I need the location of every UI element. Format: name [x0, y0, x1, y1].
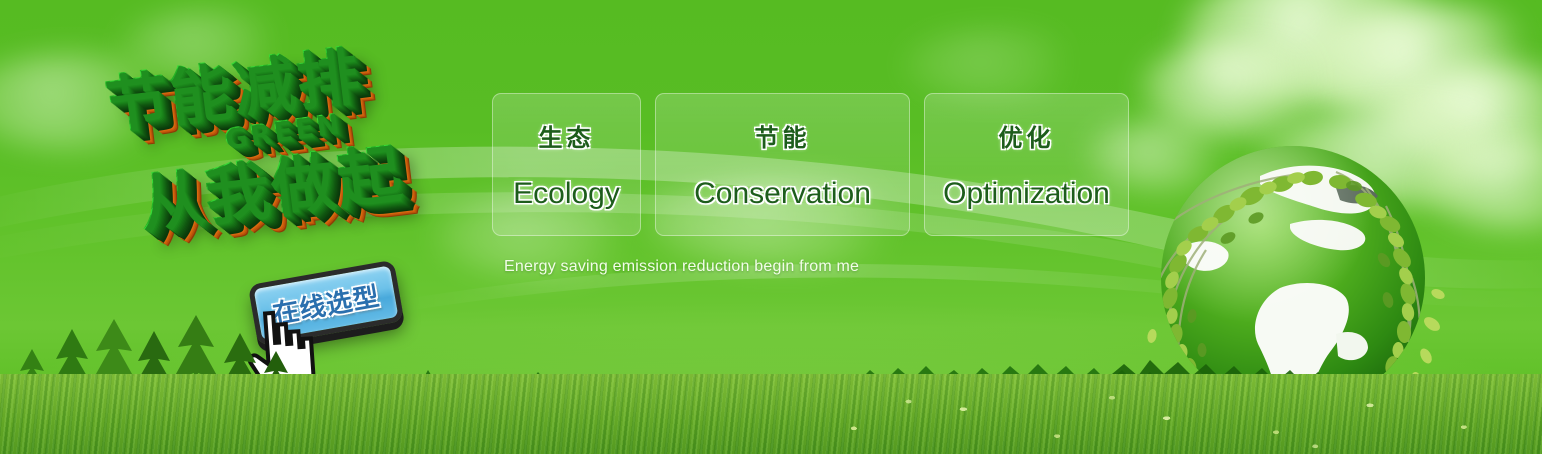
- tagline-text: Energy saving emission reduction begin f…: [504, 258, 859, 276]
- cloud-icon: [1300, 4, 1542, 124]
- feature-card-conservation-en: Conservation: [694, 177, 871, 211]
- feature-card-conservation-cn: 节能: [755, 118, 811, 153]
- fallen-leaves: [760, 390, 1542, 454]
- feature-card-ecology[interactable]: 生态 Ecology: [492, 93, 641, 236]
- headline-line-2-text: 从我做起: [133, 122, 406, 245]
- feature-card-ecology-cn: 生态: [539, 118, 595, 153]
- eco-promo-banner: 节能减排 GREEN 从我做起 在线选型 生态 Ecology 节能 Conse…: [0, 0, 1542, 454]
- cloud-icon: [1140, 40, 1350, 136]
- headline-artwork: 节能减排 GREEN 从我做起: [96, 34, 496, 264]
- feature-card-ecology-en: Ecology: [513, 177, 620, 211]
- feature-card-optimization-cn: 优化: [999, 118, 1055, 153]
- cloud-icon: [900, 30, 1100, 100]
- feature-card-optimization[interactable]: 优化 Optimization: [924, 93, 1129, 236]
- feature-card-optimization-en: Optimization: [943, 177, 1110, 211]
- headline-line-2: 从我做起: [133, 122, 406, 245]
- feature-card-list: 生态 Ecology 节能 Conservation 优化 Optimizati…: [492, 93, 1129, 236]
- feature-card-conservation[interactable]: 节能 Conservation: [655, 93, 910, 236]
- cloud-icon: [1180, 0, 1480, 106]
- grass-field: [0, 374, 1542, 454]
